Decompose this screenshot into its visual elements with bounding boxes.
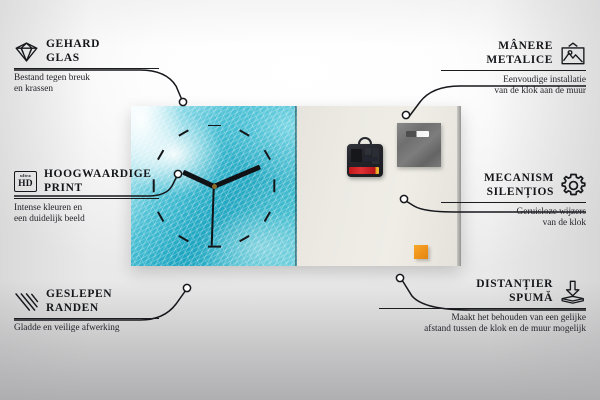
metal-hanger-plate (397, 123, 441, 167)
product-image (131, 106, 461, 266)
callout-hoogwaardige-print: ultra HD HOOGWAARDIGE PRINT Intense kleu… (14, 168, 159, 226)
callout-geslepen-randen-head: GESLEPEN RANDEN (14, 288, 159, 315)
clock-center-pivot (212, 184, 217, 189)
callout-hoogwaardige-print-head: ultra HD HOOGWAARDIGE PRINT (14, 168, 159, 195)
callout-mecanism-silentios-rule (441, 202, 586, 203)
clock-tick (208, 246, 221, 248)
callout-mecanism-silentios-title: MECANISM SILENȚIOS (484, 172, 554, 199)
callout-gehard-glas: GEHARD GLAS Bestand tegen breuk en krass… (14, 38, 159, 96)
mechanism-detail-c (372, 148, 379, 164)
clock-mechanism-box (347, 144, 383, 177)
callout-geslepen-randen-rule (14, 318, 159, 319)
callout-distantier-spuma: DISTANȚIER SPUMĂ Maakt het behouden van … (379, 278, 586, 336)
clock-tick (274, 179, 276, 192)
callout-gehard-glas-title: GEHARD GLAS (46, 38, 100, 65)
callout-gehard-glas-rule (14, 68, 159, 69)
callout-mecanism-silentios-subtitle: Geruisloze wijzers van de klok (441, 207, 586, 230)
callout-distantier-spuma-subtitle: Maakt het behouden van een gelijke afsta… (379, 313, 586, 336)
ultra-hd-icon: ultra HD (14, 171, 37, 192)
callout-gehard-glas-subtitle: Bestand tegen breuk en krassen (14, 73, 159, 96)
callout-hoogwaardige-print-subtitle: Intense kleuren en een duidelijk beeld (14, 203, 159, 226)
callout-distantier-spuma-head: DISTANȚIER SPUMĂ (379, 278, 586, 305)
callout-mecanism-silentios: MECANISM SILENȚIOS Geruisloze wijzers va… (441, 172, 586, 230)
foam-spacer (414, 245, 428, 259)
gear-icon (561, 173, 586, 198)
picture-hanger-icon (560, 42, 586, 66)
callout-manere-metalice-head: MÂNERE METALICE (441, 40, 586, 67)
mechanism-detail-a (351, 149, 362, 162)
bevelled-edges-icon (14, 291, 39, 313)
callout-mecanism-silentios-head: MECANISM SILENȚIOS (441, 172, 586, 199)
spacer-arrow-icon (560, 280, 586, 304)
callout-hoogwaardige-print-title: HOOGWAARDIGE PRINT (44, 168, 152, 195)
hanger-slot (406, 131, 429, 137)
callout-geslepen-randen-subtitle: Gladde en veilige afwerking (14, 323, 159, 334)
callout-geslepen-randen: GESLEPEN RANDEN Gladde en veilige afwerk… (14, 288, 159, 334)
callout-manere-metalice: MÂNERE METALICE Eenvoudige installatie v… (441, 40, 586, 98)
mechanism-detail-b (365, 148, 371, 155)
callout-distantier-spuma-rule (379, 308, 586, 309)
diamond-icon (14, 41, 39, 63)
clock-tick (208, 125, 221, 127)
callout-manere-metalice-subtitle: Eenvoudige installatie van de klok aan d… (441, 75, 586, 98)
callout-gehard-glas-head: GEHARD GLAS (14, 38, 159, 65)
infographic-canvas: GEHARD GLAS Bestand tegen breuk en krass… (0, 0, 600, 400)
ultra-hd-icon-large-label: HD (18, 180, 33, 190)
callout-manere-metalice-title: MÂNERE METALICE (486, 40, 553, 67)
battery (349, 167, 379, 174)
ultra-hd-icon-small-label: ultra (20, 174, 31, 179)
callout-hoogwaardige-print-rule (14, 198, 159, 199)
mechanism-detail-d (364, 157, 378, 161)
callout-distantier-spuma-title: DISTANȚIER SPUMĂ (476, 278, 553, 305)
clock-back-panel (297, 106, 461, 266)
callout-geslepen-randen-title: GESLEPEN RANDEN (46, 288, 112, 315)
callout-manere-metalice-rule (441, 70, 586, 71)
